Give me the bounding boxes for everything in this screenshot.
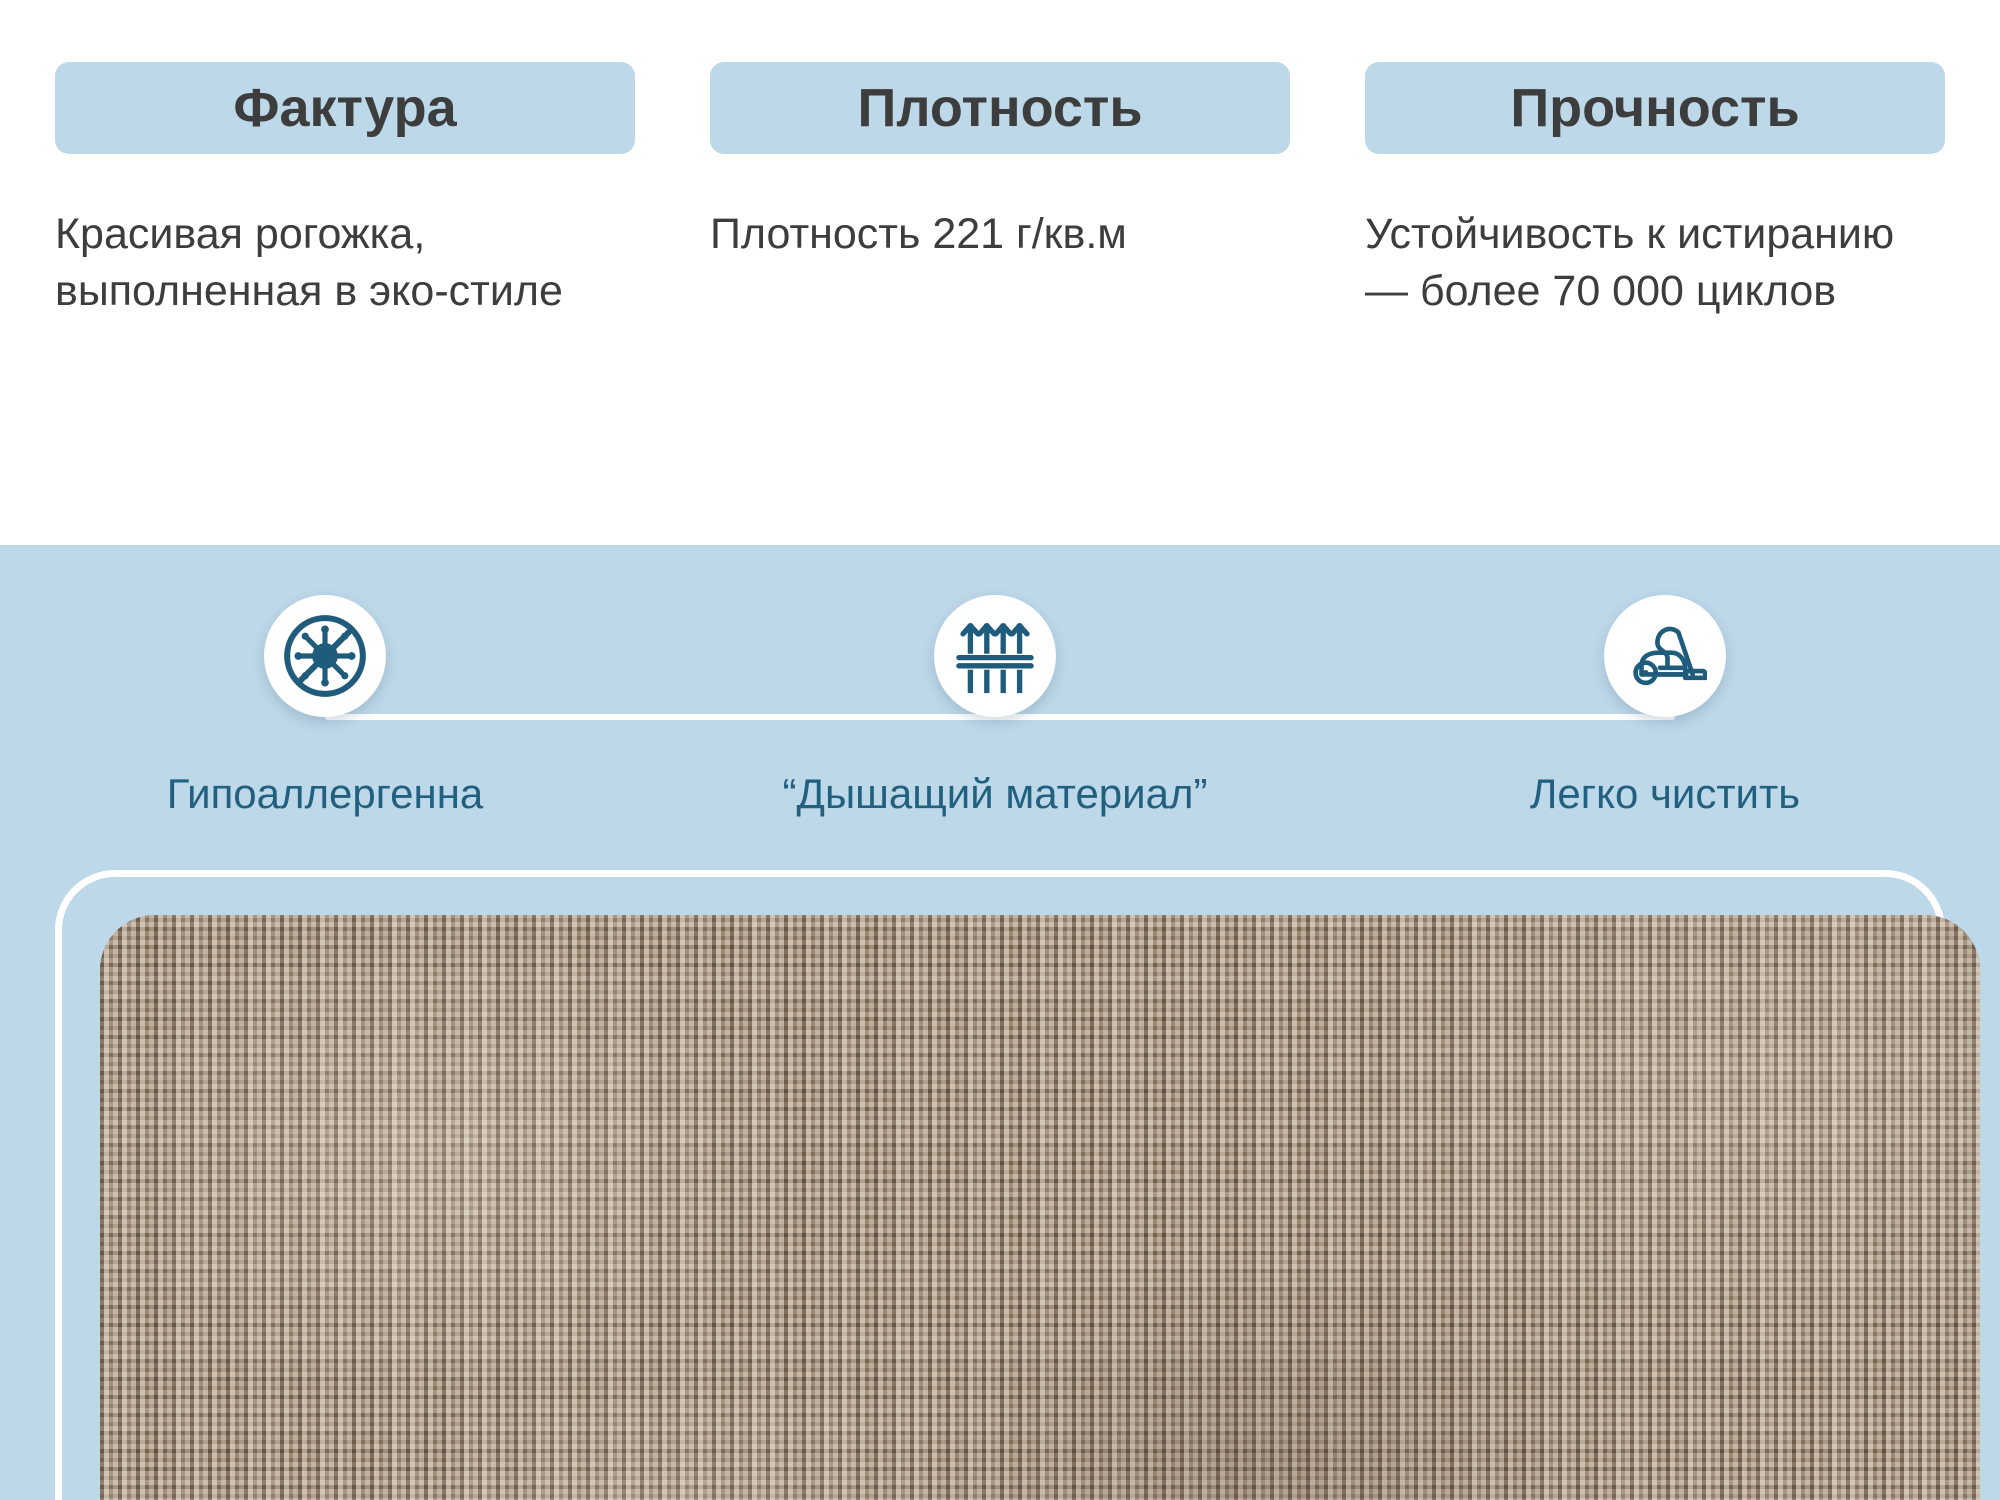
spec-badge-durability: Прочность bbox=[1365, 62, 1945, 154]
breathable-material-icon bbox=[934, 595, 1056, 717]
spec-badge-label: Плотность bbox=[857, 81, 1142, 135]
spec-column-durability: Прочность Устойчивость к истиранию — бол… bbox=[1365, 62, 1945, 363]
spec-badge-label: Фактура bbox=[233, 81, 456, 135]
spec-badge-density: Плотность bbox=[710, 62, 1290, 154]
feature-label-breathable: “Дышащий материал” bbox=[783, 773, 1208, 815]
feature-item-breathable: “Дышащий материал” bbox=[785, 595, 1205, 815]
vacuum-cleaner-icon bbox=[1604, 595, 1726, 717]
no-allergen-icon bbox=[264, 595, 386, 717]
spec-column-texture: Фактура Красивая рогожка, выполненная в … bbox=[55, 62, 635, 363]
feature-panel: Гипоаллергенна bbox=[0, 545, 2000, 1500]
spec-badge-label: Прочность bbox=[1510, 81, 1799, 135]
feature-row: Гипоаллергенна bbox=[0, 595, 2000, 745]
specs-grid: Фактура Красивая рогожка, выполненная в … bbox=[55, 62, 1945, 363]
feature-item-easy-clean: Легко чистить bbox=[1455, 595, 1875, 815]
spec-body-durability: Устойчивость к истиранию — более 70 000 … bbox=[1365, 206, 1925, 320]
fabric-swatch-shading bbox=[100, 915, 1980, 1500]
spec-column-density: Плотность Плотность 221 г/кв.м bbox=[710, 62, 1290, 363]
feature-item-hypoallergenic: Гипоаллергенна bbox=[115, 595, 535, 815]
specs-section: Фактура Красивая рогожка, выполненная в … bbox=[0, 0, 2000, 545]
spec-body-density: Плотность 221 г/кв.м bbox=[710, 206, 1240, 263]
feature-label-easy-clean: Легко чистить bbox=[1530, 773, 1800, 815]
fabric-swatch bbox=[100, 915, 1980, 1500]
feature-label-hypoallergenic: Гипоаллергенна bbox=[167, 773, 484, 815]
spec-body-texture: Красивая рогожка, выполненная в эко-стил… bbox=[55, 206, 585, 320]
spec-badge-texture: Фактура bbox=[55, 62, 635, 154]
